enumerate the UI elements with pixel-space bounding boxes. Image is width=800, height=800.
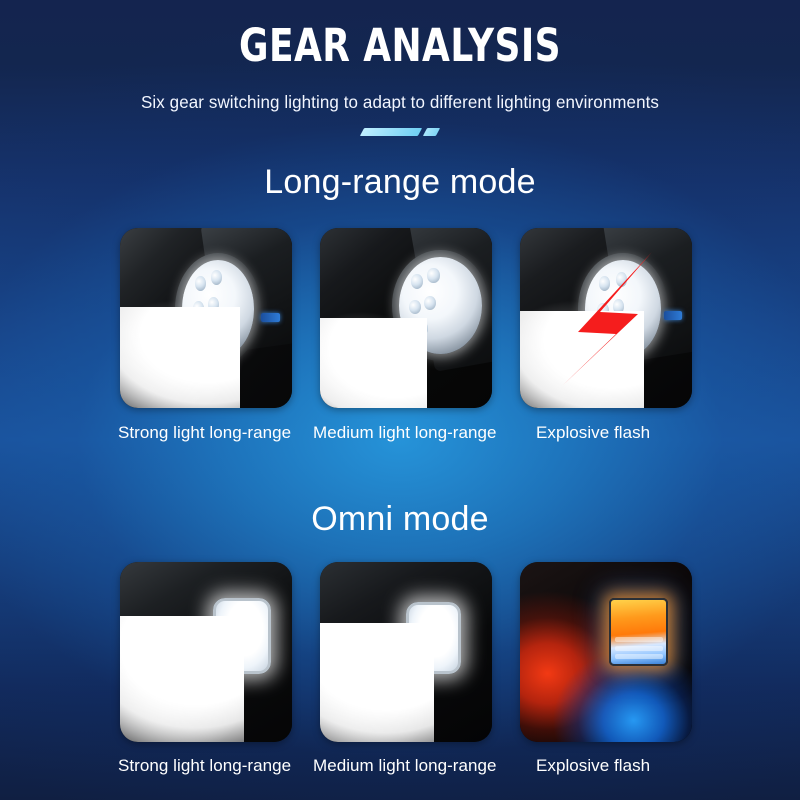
page-subtitle: Six gear switching lighting to adapt to … — [12, 92, 788, 113]
divider-bar-long — [360, 128, 422, 136]
photo-cob-panel-medium-flood — [320, 562, 492, 742]
slanted-bar-divider-icon — [0, 126, 800, 138]
gear-card-medium-light-long-range[interactable] — [320, 228, 492, 408]
divider-bar-short — [423, 128, 440, 136]
gear-card-omni-medium-light[interactable] — [320, 562, 492, 742]
infographic-page: GEAR ANALYSIS Six gear switching lightin… — [0, 0, 800, 800]
gear-card-explosive-flash[interactable] — [520, 228, 692, 408]
gear-card-omni-explosive-flash[interactable] — [520, 562, 692, 742]
photo-flashlight-wide-beam — [120, 228, 292, 408]
lightning-bolt-icon — [520, 228, 692, 408]
photo-red-blue-warning-flash — [520, 562, 692, 742]
section-heading-long-range: Long-range mode — [0, 163, 800, 202]
gear-card-strong-light-long-range[interactable] — [120, 228, 292, 408]
card-row-long-range — [0, 228, 800, 414]
caption-row-omni: Strong light long-range Medium light lon… — [0, 756, 800, 782]
card-row-omni — [0, 562, 800, 748]
card-caption: Strong light long-range — [118, 423, 291, 443]
section-heading-omni: Omni mode — [0, 500, 800, 539]
card-caption: Medium light long-range — [313, 423, 497, 443]
photo-cob-panel-strong-flood — [120, 562, 292, 742]
card-caption: Explosive flash — [536, 756, 650, 776]
card-caption: Explosive flash — [536, 423, 650, 443]
card-caption: Strong light long-range — [118, 756, 291, 776]
caption-row-long-range: Strong light long-range Medium light lon… — [0, 423, 800, 449]
photo-flashlight-medium-beam — [320, 228, 492, 408]
gear-card-omni-strong-light[interactable] — [120, 562, 292, 742]
card-caption: Medium light long-range — [313, 756, 497, 776]
page-title: GEAR ANALYSIS — [80, 18, 720, 74]
